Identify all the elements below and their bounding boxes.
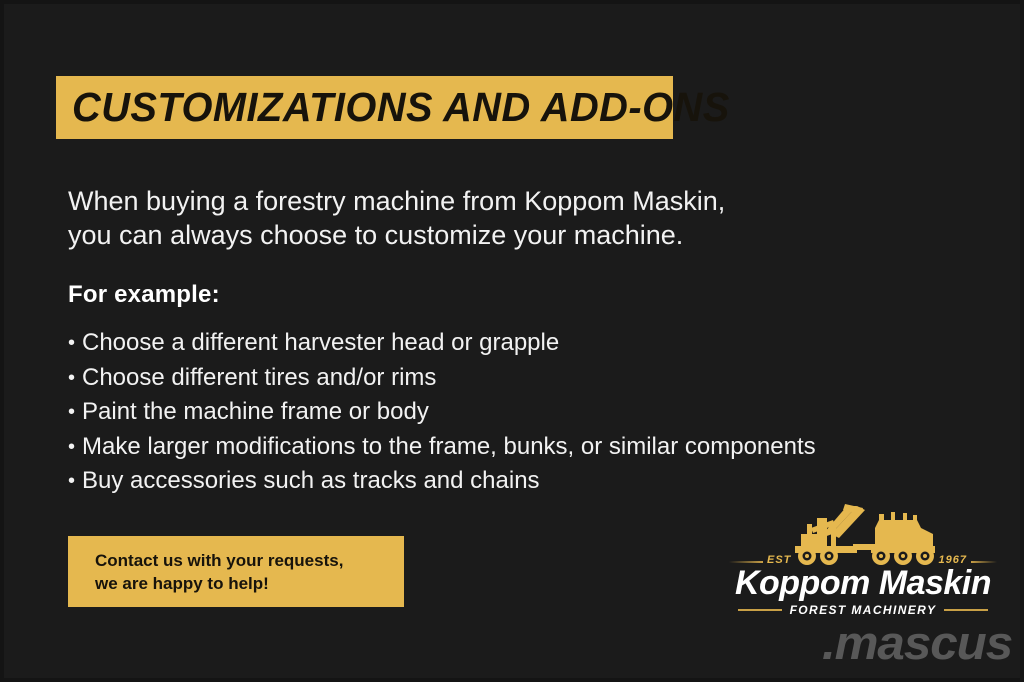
intro-line-1: When buying a forestry machine from Kopp… [68, 184, 828, 218]
contact-cta-line-1: Contact us with your requests, [95, 549, 404, 572]
koppom-maskin-logo: EST 1967 Koppom Maskin FOREST MACHINERY [729, 504, 997, 614]
list-item: Make larger modifications to the frame, … [68, 430, 868, 465]
list-item: Choose different tires and/or rims [68, 361, 868, 396]
logo-company-name: Koppom Maskin [729, 564, 997, 603]
title-banner: CUSTOMIZATIONS AND ADD-ONS [56, 76, 673, 139]
list-item: Paint the machine frame or body [68, 395, 868, 430]
for-example-heading: For example: [68, 281, 220, 309]
logo-rule-left [729, 561, 763, 563]
mascus-watermark: .mascus [756, 616, 1012, 668]
list-item: Choose a different harvester head or gra… [68, 326, 868, 361]
intro-paragraph: When buying a forestry machine from Kopp… [68, 184, 828, 252]
contact-cta-line-2: we are happy to help! [95, 572, 404, 595]
intro-line-2: you can always choose to customize your … [68, 218, 828, 252]
logo-rule-right [971, 561, 997, 563]
mascus-watermark-text: .mascus [822, 615, 1012, 670]
page-title: CUSTOMIZATIONS AND ADD-ONS [72, 84, 730, 131]
customization-options-list: Choose a different harvester head or gra… [68, 326, 868, 499]
advertisement-slide: CUSTOMIZATIONS AND ADD-ONS When buying a… [0, 0, 1024, 682]
logo-tagline-rule-right [944, 609, 988, 611]
logo-tagline-rule-left [738, 609, 782, 611]
list-item: Buy accessories such as tracks and chain… [68, 464, 868, 499]
contact-cta-box[interactable]: Contact us with your requests, we are ha… [68, 536, 404, 607]
